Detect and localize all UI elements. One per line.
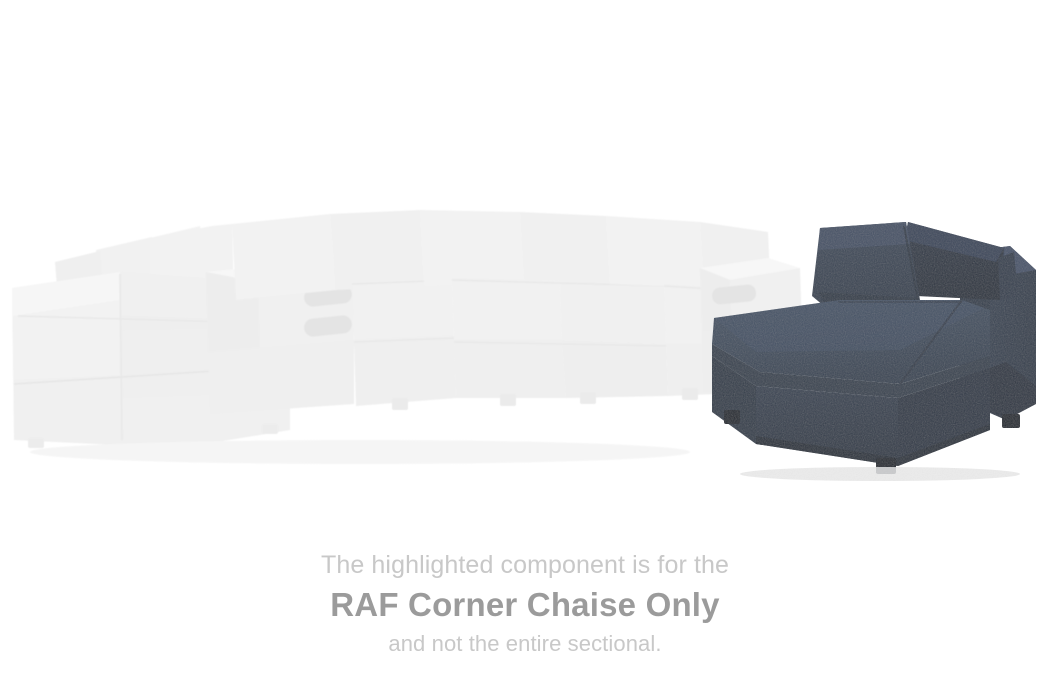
caption-line-component-name: RAF Corner Chaise Only — [0, 582, 1050, 628]
product-highlight-screenshot: The highlighted component is for the RAF… — [0, 0, 1050, 700]
ghosted-sectional — [12, 210, 802, 464]
caption-block: The highlighted component is for the RAF… — [0, 548, 1050, 660]
sectional-sofa-illustration — [0, 0, 1050, 500]
caption-line-intro: The highlighted component is for the — [0, 548, 1050, 582]
product-illustration — [0, 0, 1050, 500]
caption-line-disclaimer: and not the entire sectional. — [0, 628, 1050, 660]
